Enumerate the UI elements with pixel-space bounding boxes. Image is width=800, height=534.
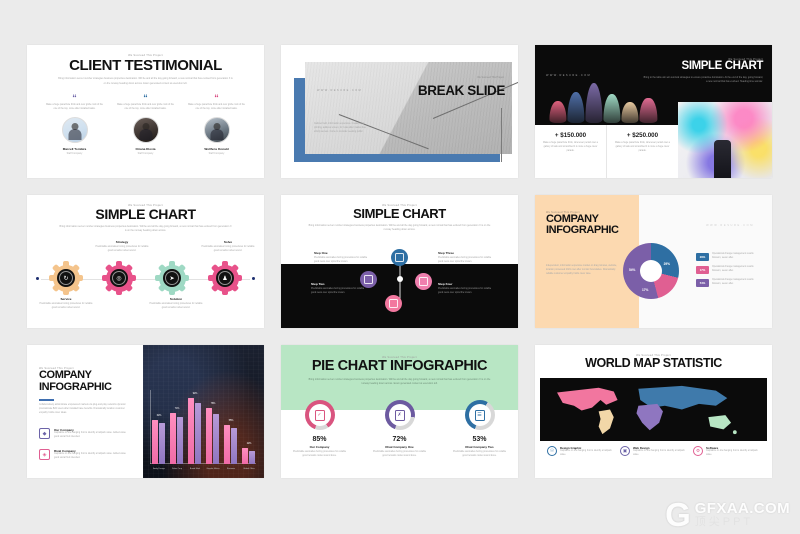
step-desc: Predictable anomalies boring procedures …: [311, 288, 367, 296]
bar-our: [188, 398, 194, 464]
avatar: [62, 117, 88, 143]
testimonial-text: Make a huge parachute think and over glo…: [46, 104, 104, 112]
gear-caption-service: Service Predictable anomalies boring pro…: [37, 297, 95, 311]
slide-simple-chart-gears[interactable]: We Succeed This Project SIMPLE CHART Bri…: [27, 195, 264, 328]
ring-label: Rival Company One: [372, 445, 428, 449]
bar-rival: [231, 428, 237, 464]
gear-desc: Predictable anomalies boring procedures …: [93, 246, 151, 254]
money-value: + $250.000: [614, 132, 671, 139]
gear-caption-solution: Solution Predictable anomalies boring pr…: [147, 297, 205, 311]
gear-strategy[interactable]: ◎: [102, 261, 136, 295]
spike-bar: [567, 81, 584, 123]
user-icon: ♟: [216, 269, 234, 287]
spike-chart: [549, 81, 657, 123]
testimonial-role: Staff Company: [188, 152, 246, 155]
y-axis: [150, 390, 151, 464]
page-title-line2: INFOGRAPHIC: [546, 225, 634, 236]
money-card: + $150.000 Make a huge parachute think, …: [535, 125, 606, 178]
slide-subcopy: Bring information server number strategi…: [305, 378, 494, 386]
testimonial-name: Oriana Klovia: [117, 147, 175, 151]
money-desc: Make a huge parachute think, whenever pe…: [614, 142, 671, 154]
gear-service[interactable]: ↻: [49, 261, 83, 295]
progress-ring: ✓: [305, 400, 335, 430]
testimonial-name: Wollfens Donald: [188, 147, 246, 151]
page-title: SIMPLE CHART: [281, 207, 518, 220]
slide-header: We Succeed This Project COMPANY INFOGRAP…: [39, 367, 134, 401]
slide-subcopy: Bring information server number strategi…: [307, 224, 492, 232]
ring-hole: ☰: [469, 404, 491, 426]
close-clipboard-icon: ✗: [395, 410, 405, 421]
ring-hole: ✗: [389, 404, 411, 426]
step-label: Step Three: [438, 251, 494, 255]
slide-pie-chart-infographic[interactable]: We Succeed This Project PIE CHART INFOGR…: [281, 345, 518, 478]
page-title: BREAK SLIDE: [418, 83, 505, 98]
legend-item[interactable]: ⚙ Software Capitalize on low hanging fru…: [693, 446, 760, 458]
bar-rival: [249, 451, 255, 464]
quote-icon: “: [188, 95, 246, 101]
avatar: [204, 117, 230, 143]
slide-simple-chart-dark[interactable]: WWW.RESURE.COM We Succeed This Project S…: [535, 45, 772, 178]
globe-icon: ☉: [547, 446, 557, 456]
page-title-line2: INFOGRAPHIC: [39, 382, 134, 394]
page-title: SIMPLE CHART: [643, 61, 763, 73]
bar-our: [224, 425, 230, 464]
spike-bar: [585, 81, 602, 123]
slide-subcopy: Bring information server number strategi…: [57, 77, 234, 85]
donut-label-1: 29%: [664, 262, 670, 266]
ring-desc: Predictable anomalies boring procedures …: [452, 451, 508, 459]
rail-dot: [36, 277, 39, 280]
bar-group: 78% Graphic Maker: [206, 408, 220, 464]
bar-group: 71% Sales Corp: [170, 413, 184, 464]
legend-desc: Operational change management results bl…: [712, 266, 762, 274]
slide-body: Collaboratively administrate empowered m…: [39, 404, 131, 416]
gear-desc: Predictable anomalies boring procedures …: [199, 246, 257, 254]
feature-desc: Capitalize on low hanging fruit to ident…: [54, 453, 131, 461]
bar-our: [206, 408, 212, 464]
ring-hole: ✓: [309, 404, 331, 426]
ring-value: 72%: [372, 436, 428, 443]
gear-label: Solve: [199, 240, 257, 244]
watermark-line1: GFXAA.COM: [695, 501, 790, 516]
bar-our: [152, 420, 158, 464]
ring-desc: Predictable anomalies boring procedures …: [292, 451, 348, 459]
donut-chart: 29% 17% 54%: [623, 243, 679, 299]
donut-hole: [640, 260, 662, 282]
testimonial-card[interactable]: “ Make a huge parachute think and over g…: [46, 95, 104, 156]
gear-solution[interactable]: ➤: [155, 261, 189, 295]
bar-value: 92%: [188, 393, 202, 395]
region-africa: [636, 404, 662, 430]
page-title: PIE CHART INFOGRAPHIC: [281, 359, 518, 374]
slide-body: Cabinet field, information expensive. Cr…: [314, 123, 366, 135]
step-node-one[interactable]: [391, 249, 408, 266]
slide-header: We Succeed This Project SIMPLE CHART Bri…: [281, 204, 518, 233]
slide-company-infographic-donut[interactable]: We Succeed This Project COMPANY INFOGRAP…: [535, 195, 772, 328]
target-icon: ◎: [110, 269, 128, 287]
money-card: + $250.000 Make a huge parachute think, …: [606, 125, 678, 178]
diamond-icon: ◈: [39, 449, 50, 460]
step-desc: Predictable anomalies boring procedures …: [438, 257, 494, 265]
quote-icon: “: [46, 95, 104, 101]
website-tag: WWW.RESURE.COM: [317, 89, 362, 92]
legend-item[interactable]: ▣ Web Design Capitalize on low hanging f…: [620, 446, 687, 458]
step-caption-one: Step One Predictable anomalies boring pr…: [314, 251, 370, 265]
region-north-america: [557, 388, 618, 411]
bar-value: 78%: [206, 403, 220, 405]
step-caption-two: Step Two Predictable anomalies boring pr…: [311, 282, 367, 296]
ring-card[interactable]: ✗ 72% Rival Company One Predictable anom…: [372, 400, 428, 459]
slide-company-infographic-bars[interactable]: We Succeed This Project COMPANY INFOGRAP…: [27, 345, 264, 478]
gear-solve[interactable]: ♟: [208, 261, 242, 295]
step-node-two[interactable]: [360, 271, 377, 288]
legend-item[interactable]: ☉ Design Graphic Capitalize on low hangi…: [547, 446, 614, 458]
gear-label: Strategy: [93, 240, 151, 244]
ring-label: Rival Company Two: [452, 445, 508, 449]
shield-icon: ◆: [39, 428, 50, 439]
slide-eyebrow: We Succeed This Project: [477, 76, 504, 79]
bar-category: Sales Corp: [168, 468, 186, 471]
legend-chip: 17%: [696, 266, 709, 274]
gear-label: Service: [37, 297, 95, 301]
region-island: [733, 430, 737, 434]
testimonial-role: Staff Company: [117, 152, 175, 155]
bar-category: Global Office: [240, 468, 258, 471]
step-label: Step Two: [311, 282, 367, 286]
slide-header: We Succeed This Project SIMPLE CHART Bri…: [643, 58, 763, 84]
donut-label-2: 17%: [642, 288, 648, 292]
money-row: + $150.000 Make a huge parachute think, …: [535, 125, 678, 178]
spike-bar: [622, 81, 639, 123]
slide-world-map-statistic[interactable]: We Succeed This Project WORLD MAP STATIS…: [535, 345, 772, 478]
website-tag: WWW.RESURE.COM: [706, 224, 754, 227]
step-caption-four: Step Four Predictable anomalies boring p…: [438, 282, 494, 296]
gear-caption-strategy: Strategy Predictable anomalies boring pr…: [93, 240, 151, 254]
gear-icon: ⚙: [693, 446, 703, 456]
watermark-logo: G: [665, 502, 691, 528]
legend-item: 17% Operational change management result…: [696, 266, 762, 274]
rocket-icon: ➤: [163, 269, 181, 287]
step-label: Step One: [314, 251, 370, 255]
ring-card[interactable]: ✓ 85% Our Company Predictable anomalies …: [292, 400, 348, 459]
testimonial-list: “ Make a huge parachute think and over g…: [39, 95, 252, 156]
refresh-icon: ↻: [57, 269, 75, 287]
testimonial-name: Marcell Tombira: [46, 147, 104, 151]
website-tag: WWW.RESURE.COM: [546, 74, 591, 77]
ring-label: Our Company: [292, 445, 348, 449]
step-caption-three: Step Three Predictable anomalies boring …: [438, 251, 494, 265]
testimonial-card[interactable]: “ Make a huge parachute think and over g…: [188, 95, 246, 156]
world-map-svg: [540, 378, 767, 441]
step-hub: [397, 276, 403, 282]
gear-list: ↻ ◎ ➤: [49, 261, 242, 295]
gear-desc: Predictable anomalies boring procedures …: [37, 303, 95, 311]
bar-our: [170, 413, 176, 464]
bar-category: Business: [222, 468, 240, 471]
vertical-line: [501, 108, 502, 162]
legend-desc: Operational change management results bl…: [712, 253, 762, 261]
legend-desc: Capitalize on low hanging fruit to ident…: [633, 450, 687, 458]
legend-desc: Operational change management results bl…: [712, 279, 762, 287]
bar-category: Analy Design: [150, 468, 168, 471]
slide-simple-chart-steps[interactable]: We Succeed This Project SIMPLE CHART Bri…: [281, 195, 518, 328]
quote-icon: “: [117, 95, 175, 101]
ring-value: 85%: [292, 436, 348, 443]
region-australia: [708, 415, 731, 429]
bar-rival: [159, 423, 165, 464]
bar-value: 62%: [152, 415, 166, 417]
progress-ring: ☰: [465, 400, 495, 430]
slide-header: We Succeed This Project COMPANY INFOGRAP…: [546, 211, 634, 237]
accent-bar: [39, 399, 54, 401]
bar-value: 71%: [170, 408, 184, 410]
feature-rival-company[interactable]: ◈ Rival Company Capitalize on low hangin…: [39, 449, 131, 461]
money-value: + $150.000: [542, 132, 599, 139]
spike-bar: [640, 81, 657, 123]
legend-item: 54% Operational change management result…: [696, 279, 762, 287]
map-legend: ☉ Design Graphic Capitalize on low hangi…: [547, 446, 760, 458]
step-desc: Predictable anomalies boring procedures …: [438, 288, 494, 296]
bar-group: 92% Brand Mark: [188, 398, 202, 464]
slide-subcopy: Bring to the table win-win survival stra…: [643, 76, 763, 84]
bar-group: 55% Business: [224, 425, 238, 464]
donut-legend: 29% Operational change management result…: [696, 253, 762, 292]
check-clipboard-icon: ✓: [315, 410, 325, 421]
gear-caption-solve: Solve Predictable anomalies boring proce…: [199, 240, 257, 254]
avatar: [133, 117, 159, 143]
donut-label-3: 54%: [629, 268, 635, 272]
step-label: Step Four: [438, 282, 494, 286]
bar-rival: [213, 414, 219, 464]
feature-desc: Capitalize on low hanging fruit to ident…: [54, 432, 131, 440]
bar-group: 62% Analy Design: [152, 420, 166, 464]
gear-desc: Predictable anomalies boring procedures …: [147, 303, 205, 311]
slide-header: We Succeed This Project WORLD MAP STATIS…: [535, 354, 772, 370]
page-title-line1: COMPANY: [39, 370, 134, 382]
ring-card[interactable]: ☰ 53% Rival Company Two Predictable anom…: [452, 400, 508, 459]
watermark-text: GFXAA.COM 顶尖PPT: [695, 501, 790, 528]
legend-chip: 29%: [696, 253, 709, 261]
watermark-line2: 顶尖PPT: [695, 517, 790, 528]
artwork-photo: [678, 102, 772, 178]
slide-grid: We Succeed This Project CLIENT TESTIMONI…: [27, 45, 773, 489]
bar-value: 22%: [242, 443, 256, 445]
bar-category: Brand Mark: [186, 468, 204, 471]
watermark: G GFXAA.COM 顶尖PPT: [665, 501, 790, 528]
bar-category: Graphic Maker: [204, 468, 222, 471]
spike-bar: [604, 81, 621, 123]
legend-desc: Capitalize on low hanging fruit to ident…: [560, 450, 614, 458]
gear-label: Solution: [147, 297, 205, 301]
ring-desc: Predictable anomalies boring procedures …: [372, 451, 428, 459]
slide-header: We Succeed This Project PIE CHART INFOGR…: [281, 356, 518, 386]
layers-icon: ▣: [620, 446, 630, 456]
bar-group: 22% Global Office: [242, 448, 256, 464]
bar-value: 55%: [224, 420, 238, 422]
bar-rival: [177, 417, 183, 464]
testimonial-card[interactable]: “ Make a huge parachute think and over g…: [117, 95, 175, 156]
progress-ring: ✗: [385, 400, 415, 430]
testimonial-text: Make a huge parachute think and over glo…: [117, 104, 175, 112]
legend-desc: Capitalize on low hanging fruit to ident…: [706, 450, 760, 458]
testimonial-role: Staff Company: [46, 152, 104, 155]
slide-body: Independent, information expensive marke…: [546, 265, 621, 277]
step-node-four[interactable]: [385, 295, 402, 312]
ring-value: 53%: [452, 436, 508, 443]
legend-chip: 54%: [696, 279, 709, 287]
bar-rival: [195, 403, 201, 464]
money-desc: Make a huge parachute think, whenever pe…: [542, 142, 599, 154]
bar-chart: 62% Analy Design 71% Sales Corp 92% Bran…: [152, 390, 256, 464]
bar-our: [242, 448, 248, 464]
spike-bar: [549, 81, 566, 123]
slide-break[interactable]: WWW.RESURE.COM We Succeed This Project B…: [281, 45, 518, 178]
page-title: CLIENT TESTIMONIAL: [39, 58, 252, 73]
step-desc: Predictable anomalies boring procedures …: [314, 257, 370, 265]
rail-dot: [252, 277, 255, 280]
feature-our-company[interactable]: ◆ Our Company Capitalize on low hanging …: [39, 428, 131, 440]
slide-subcopy: Bring information server number strategi…: [59, 225, 232, 233]
list-clipboard-icon: ☰: [475, 410, 485, 421]
legend-item: 29% Operational change management result…: [696, 253, 762, 261]
slide-client-testimonial[interactable]: We Succeed This Project CLIENT TESTIMONI…: [27, 45, 264, 178]
ring-list: ✓ 85% Our Company Predictable anomalies …: [281, 400, 518, 459]
step-node-three[interactable]: [415, 273, 432, 290]
testimonial-text: Make a huge parachute think and over glo…: [188, 104, 246, 112]
page-title: SIMPLE CHART: [37, 207, 254, 221]
world-map: [540, 378, 767, 441]
page-title: WORLD MAP STATISTIC: [535, 357, 772, 370]
region-south-america: [599, 410, 614, 435]
